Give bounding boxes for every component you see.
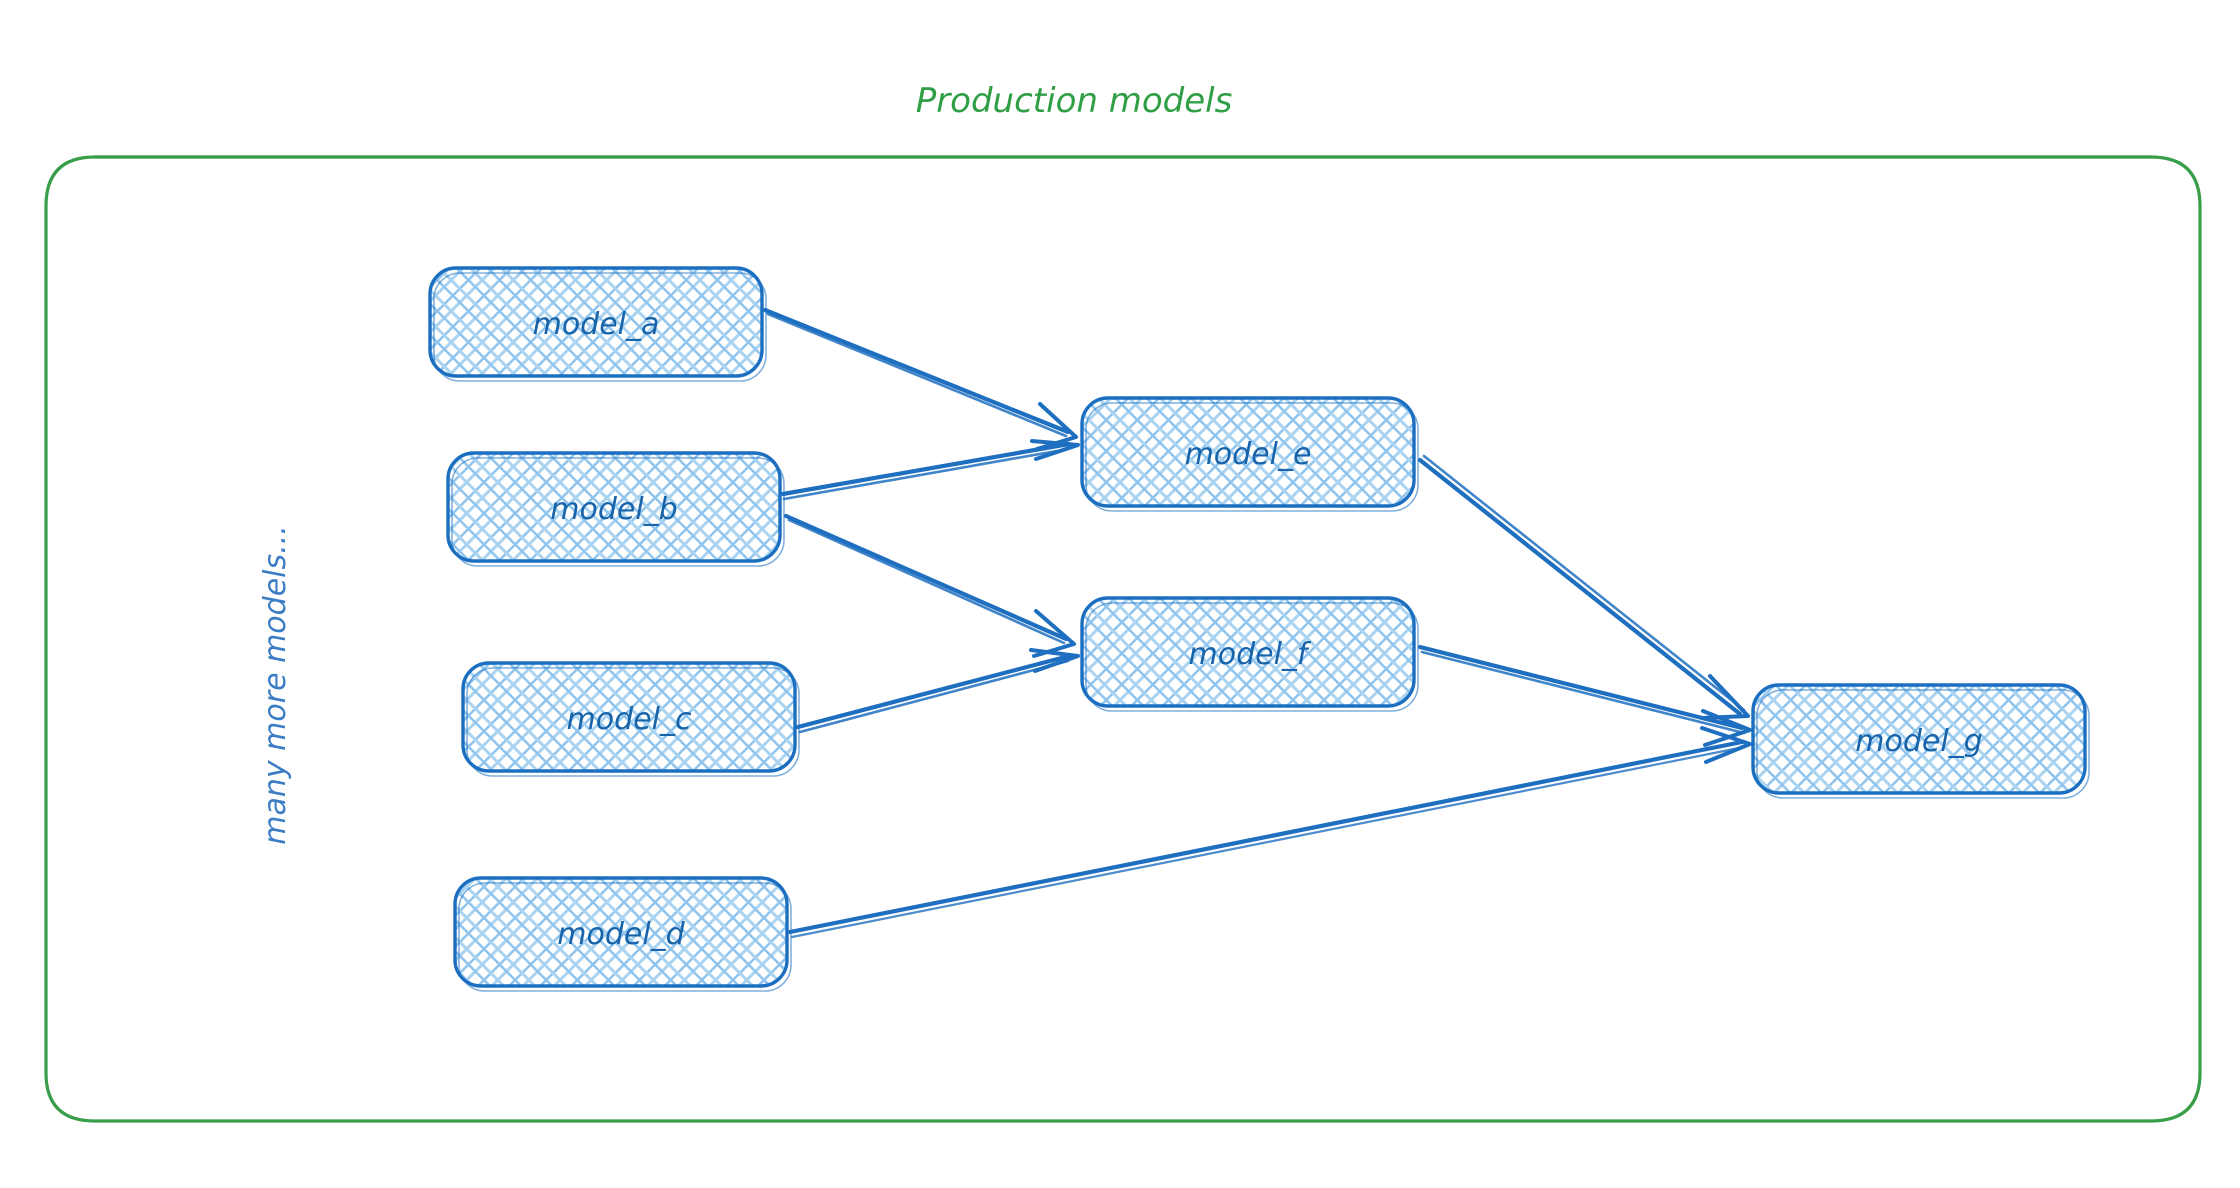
edge-model_f-model_g: [1420, 647, 1750, 745]
edge-model_d-model_g: [790, 728, 1750, 937]
side-note-label: many more models...: [258, 525, 293, 844]
node-layer: [430, 268, 2089, 991]
node-label-model_f: model_f: [1189, 637, 1312, 672]
diagram-svg: Production models many more models... mo…: [0, 0, 2240, 1188]
node-label-model_g: model_g: [1855, 724, 1982, 759]
node-label-model_d: model_d: [557, 917, 685, 952]
edge-model_e-model_g: [1420, 456, 1748, 718]
diagram-canvas: Production models many more models... mo…: [0, 0, 2240, 1188]
edge-model_b-model_f: [786, 516, 1074, 656]
node-label-model_e: model_e: [1185, 437, 1312, 472]
edge-model_b-model_e: [783, 441, 1078, 499]
node-label-model_a: model_a: [533, 307, 660, 342]
node-label-model_b: model_b: [550, 492, 677, 527]
container-title: Production models: [916, 81, 1233, 121]
node-label-model_c: model_c: [567, 702, 692, 737]
edge-model_a-model_e: [765, 310, 1076, 449]
edge-model_c-model_f: [798, 650, 1078, 732]
